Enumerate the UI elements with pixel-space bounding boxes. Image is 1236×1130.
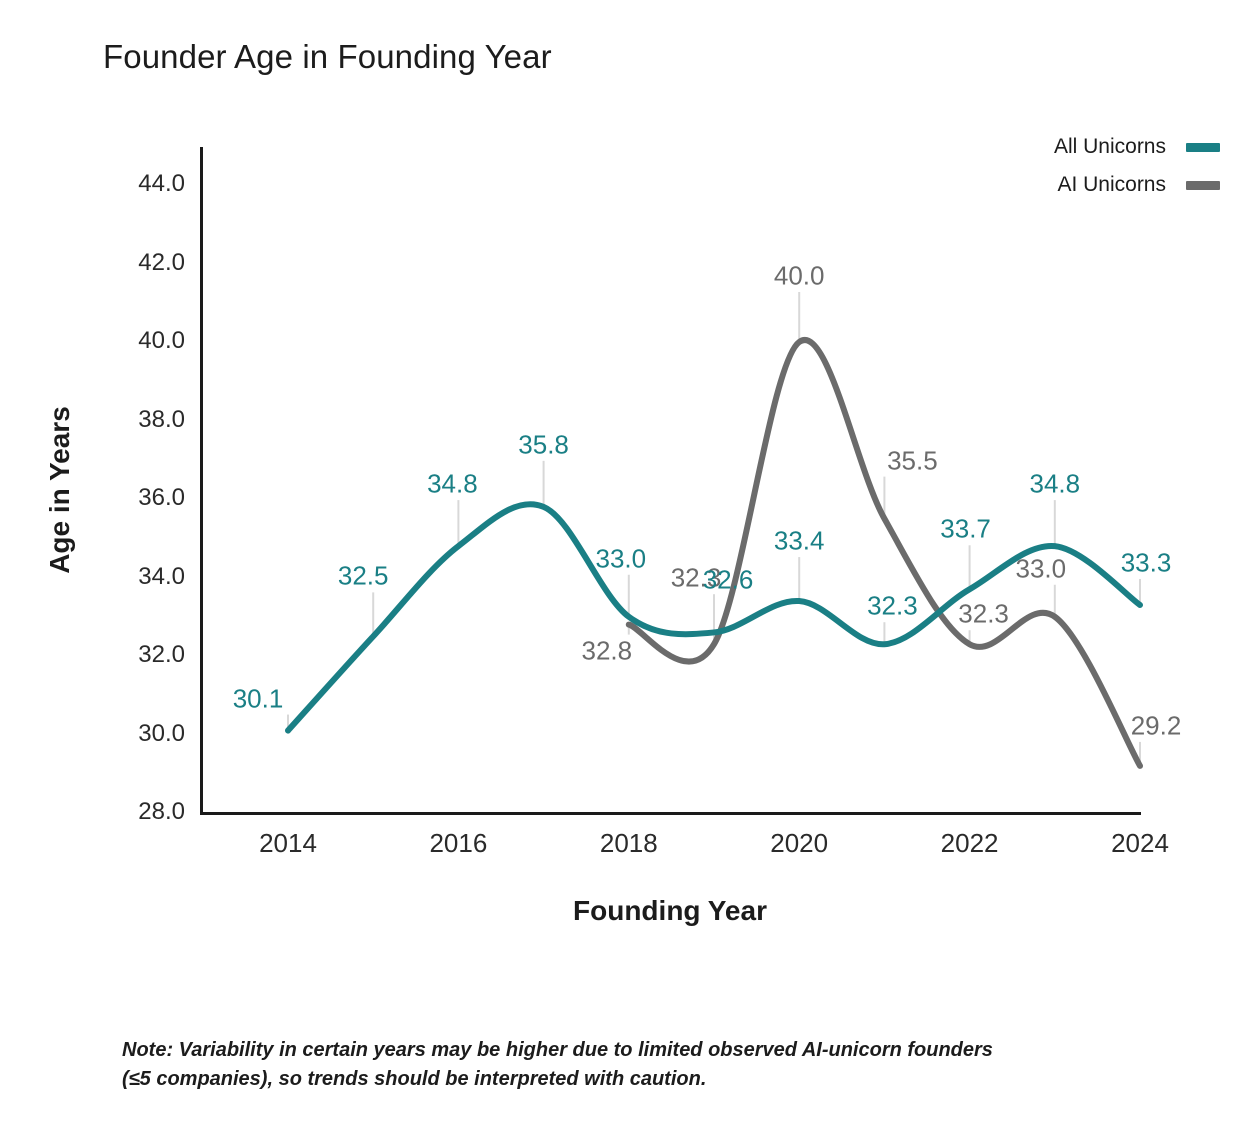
figure-note: Note: Variability in certain years may b… — [122, 1036, 1132, 1094]
data-value-label-all-unicorns: 35.8 — [518, 429, 569, 460]
figure-note-line-2: (≤5 companies), so trends should be inte… — [122, 1065, 1132, 1094]
chart-figure: Founder Age in Founding Year All Unicorn… — [0, 0, 1236, 1130]
data-value-label-ai-unicorns: 29.2 — [1131, 710, 1182, 741]
data-value-label-ai-unicorns: 35.5 — [887, 445, 938, 476]
data-value-label-all-unicorns: 33.4 — [774, 526, 825, 557]
data-value-label-all-unicorns: 32.3 — [867, 591, 918, 622]
data-value-label-ai-unicorns: 33.0 — [1015, 553, 1066, 584]
data-value-label-all-unicorns: 32.5 — [338, 561, 389, 592]
data-value-label-all-unicorns: 34.8 — [427, 469, 478, 500]
data-value-label-ai-unicorns: 40.0 — [774, 261, 825, 292]
data-value-label-all-unicorns: 34.8 — [1029, 469, 1080, 500]
data-value-label-ai-unicorns: 32.3 — [958, 599, 1009, 630]
data-value-label-all-unicorns: 33.7 — [940, 514, 991, 545]
label-leader-lines — [288, 292, 1140, 766]
data-value-label-all-unicorns: 32.6 — [703, 565, 754, 596]
figure-note-line-1: Note: Variability in certain years may b… — [122, 1036, 1132, 1065]
data-value-label-all-unicorns: 30.1 — [233, 683, 284, 714]
data-value-label-ai-unicorns: 32.8 — [581, 635, 632, 666]
data-value-label-all-unicorns: 33.0 — [595, 543, 646, 574]
data-value-label-all-unicorns: 33.3 — [1121, 547, 1172, 578]
